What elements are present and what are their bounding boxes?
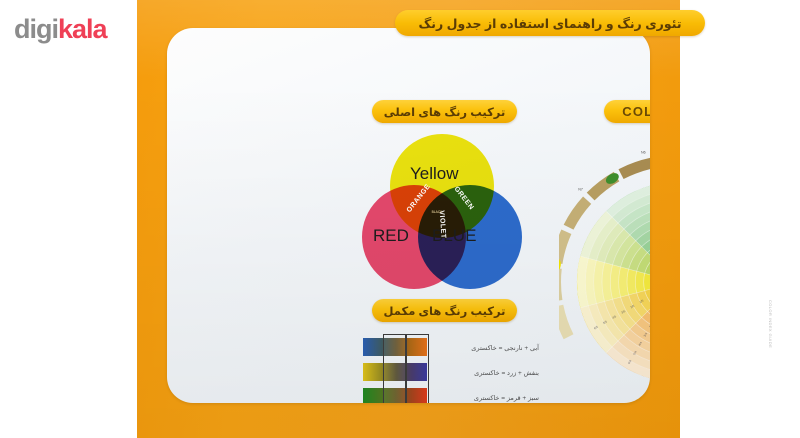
orange-poster-panel: تئوری رنگ و راهنمای استفاده از جدول رنگ … [137, 0, 680, 438]
color-index-pill: COLOR INDEX [604, 100, 650, 123]
poster-title-text: تئوری رنگ و راهنمای استفاده از جدول رنگ [419, 16, 682, 31]
wheel-slice [559, 305, 573, 339]
wheel-slice [559, 229, 571, 263]
poster-edge-note: COLOR INDEX GUIDE [768, 300, 773, 348]
complementary-text-1: آبی + نارنجی = خاکستری [439, 344, 539, 352]
white-content-card: ترکیب رنگ های اصلی ترکیب رنگ های مکمل CO… [167, 28, 650, 403]
digikala-watermark: digikala [14, 14, 107, 45]
primary-colors-pill: ترکیب رنگ های اصلی [372, 100, 517, 123]
wheel-slice [619, 158, 650, 179]
complementary-gray-highlight-box-2 [405, 334, 429, 403]
wheel-arc-tick-label: N6 [641, 150, 646, 154]
complementary-bars-group: آبی + نارنجی = خاکستری بنفش + زرد = خاکس… [363, 338, 539, 403]
venn-circle-blue [418, 185, 522, 289]
wheel-arc-tick-label: N7 [578, 187, 583, 191]
wheel-slice [559, 268, 562, 302]
color-index-label: COLOR INDEX [622, 104, 650, 119]
poster-screenshot: digikala تئوری رنگ و راهنمای استفاده از … [0, 0, 800, 438]
complementary-text-2: بنفش + زرد = خاکستری [439, 369, 539, 377]
primary-color-venn-diagram: Yellow RED BLUE ORANGE GREEN VIOLET BLAC… [362, 134, 522, 289]
color-wheel-svg: 1/22/23/24/25/26/27/21/32/33/34/35/36/37… [559, 140, 650, 403]
poster-title-pill: تئوری رنگ و راهنمای استفاده از جدول رنگ [395, 10, 705, 36]
watermark-digi: digi [14, 14, 58, 44]
complementary-colors-pill: ترکیب رنگ های مکمل [372, 299, 517, 322]
wheel-slice [564, 197, 592, 230]
complementary-colors-label: ترکیب رنگ های مکمل [384, 304, 506, 318]
complementary-text-3: سبز + قرمز = خاکستری [439, 394, 539, 402]
primary-colors-label: ترکیب رنگ های اصلی [384, 105, 506, 119]
complementary-gray-highlight-box-1 [383, 334, 407, 403]
watermark-kala: kala [58, 14, 107, 44]
color-index-wheel: 1/22/23/24/25/26/27/21/32/33/34/35/36/37… [559, 140, 650, 403]
